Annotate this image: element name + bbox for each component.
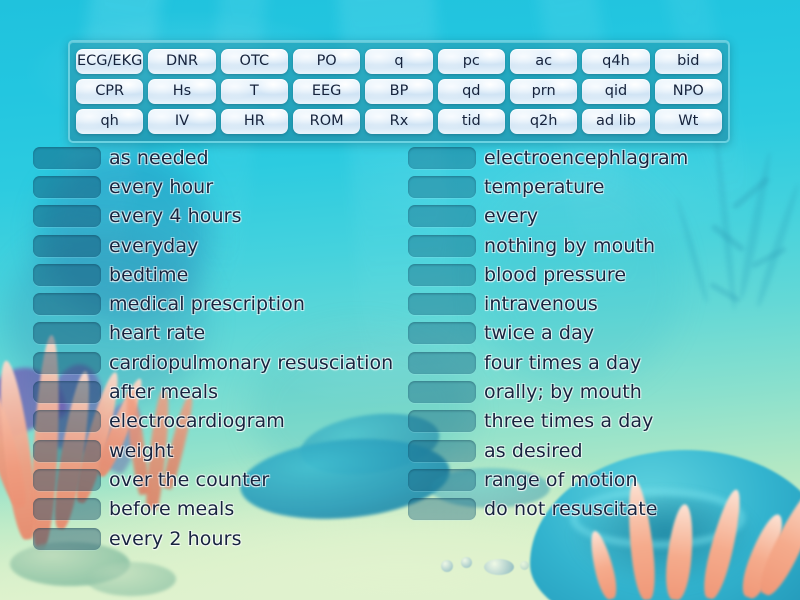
draggable-tile[interactable]: q [365, 49, 432, 74]
draggable-tile[interactable]: bid [655, 49, 722, 74]
answer-text: every 4 hours [109, 205, 242, 227]
drop-slot-right-3[interactable] [408, 205, 476, 227]
answer-row: every 2 hours [33, 524, 408, 553]
anemone-tentacle [0, 360, 32, 511]
draggable-tile[interactable]: DNR [148, 49, 215, 74]
draggable-tile[interactable]: qh [76, 109, 143, 134]
answer-text: twice a day [484, 322, 594, 344]
answer-row: everyday [33, 231, 408, 260]
draggable-tile[interactable]: Rx [365, 109, 432, 134]
draggable-tile[interactable]: Wt [655, 109, 722, 134]
draggable-tile[interactable]: ad lib [582, 109, 649, 134]
answer-text: cardiopulmonary resusciation [109, 352, 393, 374]
answer-text: three times a day [484, 410, 654, 432]
answer-text: heart rate [109, 322, 205, 344]
draggable-tile[interactable]: q2h [510, 109, 577, 134]
tile-bank: ECG/EKGDNROTCPOqpcacq4hbidCPRHsTEEGBPqdp… [68, 40, 730, 143]
answer-row: twice a day [408, 319, 788, 348]
drop-slot-left-3[interactable] [33, 205, 101, 227]
answer-text: as desired [484, 440, 583, 462]
answer-text: every hour [109, 176, 213, 198]
answer-row: four times a day [408, 348, 788, 377]
answer-text: range of motion [484, 469, 638, 491]
draggable-tile[interactable]: Hs [148, 79, 215, 104]
drop-slot-right-13[interactable] [408, 498, 476, 520]
bubble [520, 561, 529, 570]
draggable-tile[interactable]: tid [438, 109, 505, 134]
answer-row: electrocardiogram [33, 407, 408, 436]
draggable-tile[interactable]: ECG/EKG [76, 49, 143, 74]
answer-row: three times a day [408, 407, 788, 436]
bubble [461, 557, 472, 568]
drop-slot-left-7[interactable] [33, 322, 101, 344]
answer-text: orally; by mouth [484, 381, 642, 403]
answer-row: blood pressure [408, 260, 788, 289]
draggable-tile[interactable]: qid [582, 79, 649, 104]
answer-text: electroencephlagram [484, 147, 688, 169]
drop-slot-right-4[interactable] [408, 235, 476, 257]
answer-row: nothing by mouth [408, 231, 788, 260]
answer-row: orally; by mouth [408, 377, 788, 406]
answer-text: intravenous [484, 293, 598, 315]
pebble [86, 562, 176, 596]
answer-row: medical prescription [33, 289, 408, 318]
answer-row: every [408, 202, 788, 231]
draggable-tile[interactable]: ROM [293, 109, 360, 134]
drop-slot-left-13[interactable] [33, 498, 101, 520]
answer-row: do not resuscitate [408, 495, 788, 524]
drop-slot-right-1[interactable] [408, 147, 476, 169]
activity-stage: ECG/EKGDNROTCPOqpcacq4hbidCPRHsTEEGBPqdp… [0, 0, 800, 600]
bubble [484, 559, 514, 575]
answer-row: before meals [33, 495, 408, 524]
answer-row: as needed [33, 143, 408, 172]
drop-slot-left-10[interactable] [33, 410, 101, 432]
answer-column-left: as neededevery hourevery 4 hourseveryday… [33, 143, 408, 553]
drop-slot-right-5[interactable] [408, 264, 476, 286]
drop-slot-left-9[interactable] [33, 381, 101, 403]
answer-text: blood pressure [484, 264, 626, 286]
drop-slot-right-11[interactable] [408, 440, 476, 462]
answer-row: cardiopulmonary resusciation [33, 348, 408, 377]
draggable-tile[interactable]: OTC [221, 49, 288, 74]
draggable-tile[interactable]: pc [438, 49, 505, 74]
answer-text: after meals [109, 381, 218, 403]
tile-row: ECG/EKGDNROTCPOqpcacq4hbid [76, 49, 722, 74]
answer-text: before meals [109, 498, 234, 520]
answer-row: bedtime [33, 260, 408, 289]
bubble [441, 560, 453, 572]
drop-slot-left-12[interactable] [33, 469, 101, 491]
answer-text: do not resuscitate [484, 498, 658, 520]
drop-slot-left-8[interactable] [33, 352, 101, 374]
answer-text: over the counter [109, 469, 269, 491]
anemone-tentacle [586, 529, 620, 600]
drop-slot-right-7[interactable] [408, 322, 476, 344]
tile-row: qhIVHRROMRxtidq2had libWt [76, 109, 722, 134]
draggable-tile[interactable]: EEG [293, 79, 360, 104]
answer-text: electrocardiogram [109, 410, 285, 432]
answer-text: weight [109, 440, 174, 462]
draggable-tile[interactable]: CPR [76, 79, 143, 104]
answer-text: everyday [109, 235, 198, 257]
drop-slot-left-6[interactable] [33, 293, 101, 315]
draggable-tile[interactable]: BP [365, 79, 432, 104]
answer-text: temperature [484, 176, 605, 198]
answer-row: intravenous [408, 289, 788, 318]
answer-row: every hour [33, 172, 408, 201]
draggable-tile[interactable]: ac [510, 49, 577, 74]
drop-slot-right-9[interactable] [408, 381, 476, 403]
drop-slot-left-1[interactable] [33, 147, 101, 169]
answer-text: four times a day [484, 352, 641, 374]
answer-text: medical prescription [109, 293, 305, 315]
draggable-tile[interactable]: PO [293, 49, 360, 74]
answer-row: over the counter [33, 465, 408, 494]
answer-row: electroencephlagram [408, 143, 788, 172]
answer-text: every 2 hours [109, 528, 242, 550]
answer-row: weight [33, 436, 408, 465]
answer-row: range of motion [408, 465, 788, 494]
answer-row: after meals [33, 377, 408, 406]
draggable-tile[interactable]: q4h [582, 49, 649, 74]
draggable-tile[interactable]: T [221, 79, 288, 104]
answer-text: as needed [109, 147, 209, 169]
tile-row: CPRHsTEEGBPqdprnqidNPO [76, 79, 722, 104]
drop-slot-right-6[interactable] [408, 293, 476, 315]
drop-slot-right-12[interactable] [408, 469, 476, 491]
answer-row: heart rate [33, 319, 408, 348]
drop-slot-right-2[interactable] [408, 176, 476, 198]
drop-slot-left-14[interactable] [33, 528, 101, 550]
draggable-tile[interactable]: prn [510, 79, 577, 104]
answer-row: temperature [408, 172, 788, 201]
answer-row: as desired [408, 436, 788, 465]
drop-slot-left-4[interactable] [33, 235, 101, 257]
answer-text: nothing by mouth [484, 235, 655, 257]
drop-slot-left-11[interactable] [33, 440, 101, 462]
drop-slot-right-8[interactable] [408, 352, 476, 374]
draggable-tile[interactable]: HR [221, 109, 288, 134]
drop-slot-right-10[interactable] [408, 410, 476, 432]
drop-slot-left-5[interactable] [33, 264, 101, 286]
drop-slot-left-2[interactable] [33, 176, 101, 198]
draggable-tile[interactable]: qd [438, 79, 505, 104]
draggable-tile[interactable]: NPO [655, 79, 722, 104]
answer-text: every [484, 205, 538, 227]
answer-column-right: electroencephlagramtemperatureeverynothi… [408, 143, 788, 524]
draggable-tile[interactable]: IV [148, 109, 215, 134]
answer-text: bedtime [109, 264, 188, 286]
answer-row: every 4 hours [33, 202, 408, 231]
